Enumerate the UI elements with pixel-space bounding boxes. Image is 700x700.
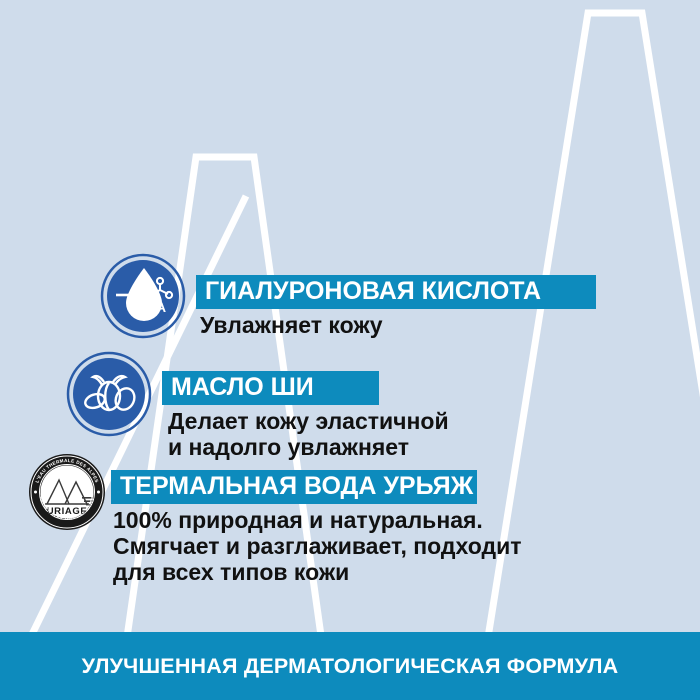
ingredient-shea-butter-body: МАСЛО ШИ Делает кожу эластичной и надолг… xyxy=(162,371,449,460)
product-benefits-poster: HA ГИАЛУРОНОВАЯ КИСЛОТА Увлажняет кожу М… xyxy=(0,0,700,700)
footer-banner-text: УЛУЧШЕННАЯ ДЕРМАТОЛОГИЧЕСКАЯ ФОРМУЛА xyxy=(82,654,619,679)
shea-nuts-icon xyxy=(66,351,152,437)
ingredient-description-shea-butter: Делает кожу эластичной и надолго увлажня… xyxy=(168,408,449,460)
ingredient-hyaluronic-acid-body: ГИАЛУРОНОВАЯ КИСЛОТА Увлажняет кожу xyxy=(196,275,596,338)
ingredient-description-hyaluronic-acid: Увлажняет кожу xyxy=(200,312,596,338)
ingredient-thermal-water-body: ТЕРМАЛЬНАЯ ВОДА УРЬЯЖ 100% природная и н… xyxy=(111,470,522,586)
footer-banner: УЛУЧШЕННАЯ ДЕРМАТОЛОГИЧЕСКАЯ ФОРМУЛА xyxy=(0,632,700,700)
ingredient-title-shea-butter: МАСЛО ШИ xyxy=(162,371,379,405)
uriage-thermal-water-seal-icon: URIAGE L'EAU THERMALE DES ALPES FRENCH A… xyxy=(27,452,107,532)
ingredient-title-thermal-water: ТЕРМАЛЬНАЯ ВОДА УРЬЯЖ xyxy=(111,470,477,504)
ingredient-description-thermal-water: 100% природная и натуральная. Смягчает и… xyxy=(113,507,522,586)
ha-icon-label: HA xyxy=(146,299,166,315)
hyaluronic-acid-droplet-icon: HA xyxy=(100,253,186,339)
mountain-outline-background xyxy=(0,0,700,700)
ingredient-title-hyaluronic-acid: ГИАЛУРОНОВАЯ КИСЛОТА xyxy=(196,275,596,309)
